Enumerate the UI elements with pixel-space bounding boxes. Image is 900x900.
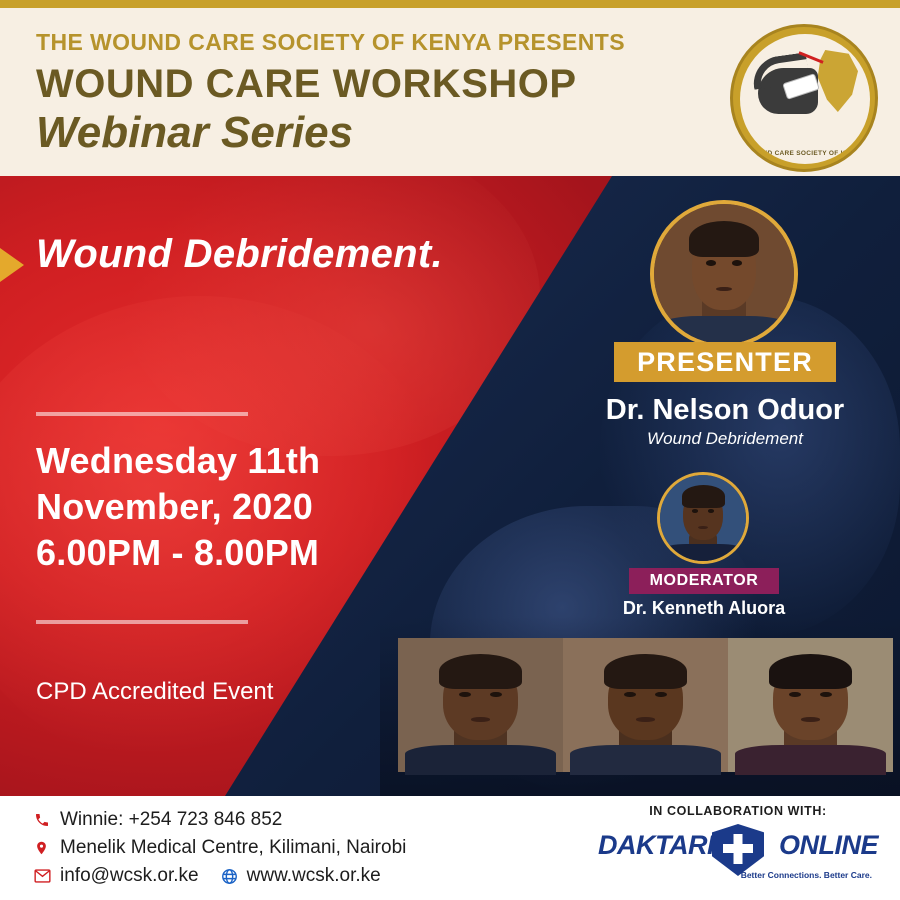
- event-time: 6.00PM - 8.00PM: [36, 530, 466, 576]
- mouth: [471, 717, 491, 722]
- event-datetime: Wednesday 11th November, 2020 6.00PM - 8…: [36, 438, 466, 576]
- panelist-item: PANELIST Dr. Benjamin Wabwire: [563, 638, 728, 772]
- series-title: Webinar Series: [36, 109, 696, 157]
- cpd-accreditation-note: CPD Accredited Event: [36, 678, 273, 706]
- presenter-badge: PRESENTER: [614, 342, 836, 382]
- logo-inner: WOUND CARE SOCIETY OF KENYA: [740, 34, 870, 164]
- location-pin-icon: [34, 840, 60, 856]
- presenter-topic: Wound Debridement: [540, 429, 900, 449]
- contact-phone-row: Winnie: +254 723 846 852: [34, 806, 554, 834]
- eye-left: [624, 692, 636, 697]
- collaboration-block: IN COLLABORATION WITH: DAKTARI ONLINE Be…: [598, 804, 878, 878]
- eye-left: [789, 692, 801, 697]
- daktari-online-logo: DAKTARI ONLINE Better Connections. Bette…: [598, 824, 878, 878]
- collab-tagline: Better Connections. Better Care.: [741, 870, 872, 880]
- hair: [604, 654, 687, 689]
- eye-right: [708, 509, 714, 512]
- hair: [769, 654, 852, 689]
- contact-address-row: Menelik Medical Centre, Kilimani, Nairob…: [34, 834, 554, 862]
- eye-left: [706, 260, 716, 266]
- poster-header: THE WOUND CARE SOCIETY OF KENYA PRESENTS…: [0, 8, 900, 176]
- hair: [689, 221, 759, 257]
- panelist-avatar: [439, 638, 523, 722]
- mouth: [698, 526, 708, 529]
- panelist-face: [769, 638, 853, 722]
- panelist-item: PANELIST Dr. Wanjiru Karanja: [728, 638, 893, 772]
- kenya-map-shape: [816, 50, 858, 112]
- cross-horizontal: [723, 844, 753, 853]
- collab-name-left: DAKTARI: [598, 830, 714, 861]
- wound-care-society-logo-icon: WOUND CARE SOCIETY OF KENYA: [730, 24, 878, 172]
- poster-body: Wound Debridement. Wednesday 11th Novemb…: [0, 176, 900, 796]
- moderator-name: Dr. Kenneth Aluora: [594, 598, 814, 619]
- presenter-name: Dr. Nelson Oduor: [540, 394, 900, 427]
- collaboration-label: IN COLLABORATION WITH:: [598, 804, 878, 818]
- panelist-face: [439, 638, 523, 722]
- webinar-topic: Wound Debridement.: [36, 232, 556, 277]
- divider-top: [36, 412, 248, 416]
- shirt: [663, 544, 742, 563]
- eye-left: [459, 692, 471, 697]
- website-text[interactable]: www.wcsk.or.ke: [247, 865, 381, 887]
- collab-name-right: ONLINE: [779, 830, 878, 861]
- hair: [439, 654, 522, 689]
- panelist-face: [604, 638, 688, 722]
- event-date-line-2: November, 2020: [36, 484, 466, 530]
- contact-email-web-row: info@wcsk.or.ke www.wcsk.or.ke: [34, 862, 554, 890]
- panelist-avatar: [769, 638, 853, 722]
- presenter-avatar: [650, 200, 798, 348]
- top-gold-bar: [0, 0, 900, 8]
- contact-details: Winnie: +254 723 846 852 Menelik Medical…: [34, 806, 554, 890]
- eye-right: [490, 692, 502, 697]
- address-text: Menelik Medical Centre, Kilimani, Nairob…: [60, 837, 406, 859]
- poster-footer: Winnie: +254 723 846 852 Menelik Medical…: [0, 796, 900, 900]
- panelist-item: PANELIST Dr. Peter Oduor: [398, 638, 563, 772]
- mouth: [801, 717, 821, 722]
- eye-right: [732, 260, 742, 266]
- organizer-line: THE WOUND CARE SOCIETY OF KENYA PRESENTS: [36, 30, 696, 55]
- mouth: [636, 717, 656, 722]
- presenter-face: [654, 204, 794, 344]
- envelope-icon: [34, 869, 60, 883]
- webinar-poster: THE WOUND CARE SOCIETY OF KENYA PRESENTS…: [0, 0, 900, 900]
- workshop-title: WOUND CARE WORKSHOP: [36, 61, 696, 107]
- phone-icon: [34, 812, 60, 828]
- globe-icon: [221, 868, 247, 885]
- panelist-avatar: [604, 638, 688, 722]
- panelist-list: PANELIST Dr. Peter Oduor: [398, 638, 898, 778]
- event-date-line-1: Wednesday 11th: [36, 438, 466, 484]
- eye-right: [655, 692, 667, 697]
- divider-bottom: [36, 620, 248, 624]
- moderator-face: [660, 475, 746, 561]
- header-text-block: THE WOUND CARE SOCIETY OF KENYA PRESENTS…: [36, 30, 696, 158]
- phone-text: Winnie: +254 723 846 852: [60, 809, 282, 831]
- moderator-avatar: [657, 472, 749, 564]
- logo-ring-label: WOUND CARE SOCIETY OF KENYA: [740, 150, 870, 157]
- eye-right: [820, 692, 832, 697]
- email-text[interactable]: info@wcsk.or.ke: [60, 865, 199, 887]
- gold-arrow-icon: [0, 248, 24, 282]
- moderator-badge: MODERATOR: [629, 568, 779, 594]
- hair: [682, 485, 725, 507]
- eye-left: [692, 509, 698, 512]
